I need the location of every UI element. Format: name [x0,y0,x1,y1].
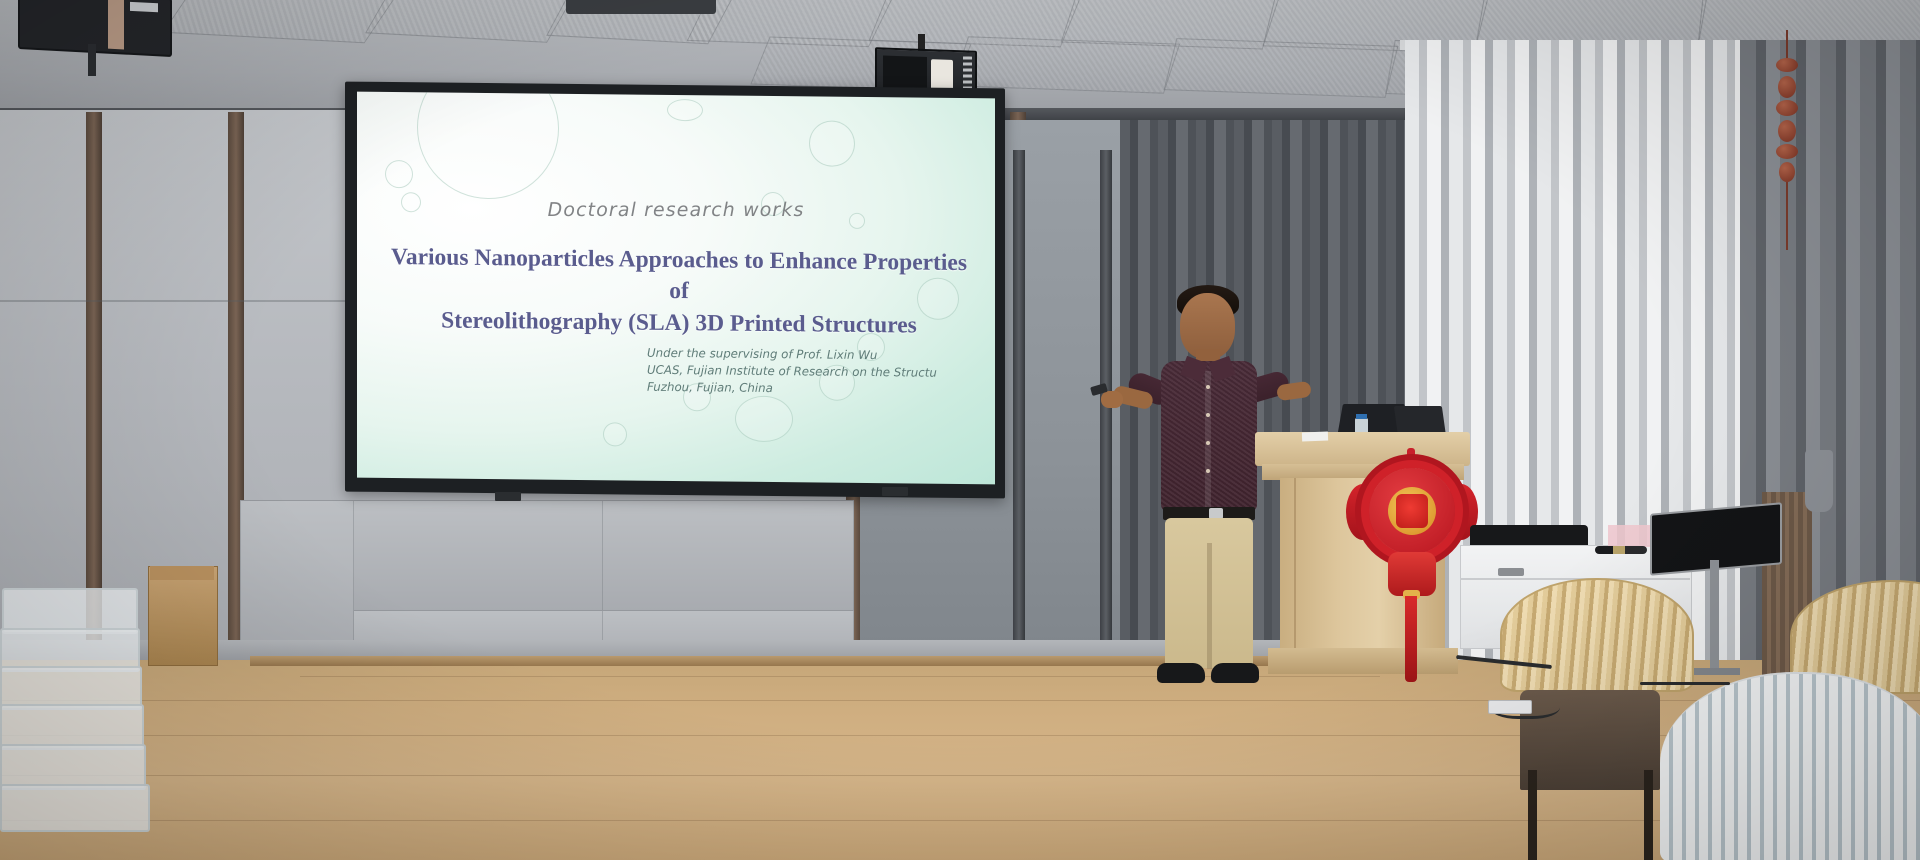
slide-bubble [667,99,703,121]
presenter-trouser-seam [1207,543,1212,669]
floor-cable [1640,682,1730,685]
shirt-button [1206,385,1210,389]
slide-eyebrow-text: Doctoral research works [357,199,995,221]
hanging-ornament-bead [1776,100,1798,116]
screen-mount [495,492,521,501]
hanging-ornament-tail [1786,182,1788,250]
slide-bubble [417,92,559,200]
cardboard-carton [148,566,218,666]
chair-leg [1644,770,1653,860]
presenter-left-shoe [1157,663,1205,683]
podium-base [1268,648,1458,674]
wireless-microphone [1595,546,1647,554]
presenter-left-hand [1101,391,1123,408]
slide-title-line-2: Stereolithography (SLA) 3D Printed Struc… [441,307,917,338]
pink-item-tray [1608,525,1650,547]
slide-bubble [735,396,793,443]
striped-tablecloth [1660,672,1920,860]
wall-trim-strip [1013,150,1025,680]
slide-subtitle-line-3: Fuzhou, Fujian, China [647,378,937,398]
hanging-ornament-bead [1778,120,1796,142]
podium-top [1255,432,1470,466]
ceiling-tile [952,36,1180,93]
hanging-cloth [1805,450,1833,512]
hanging-ornament-bead [1776,144,1798,159]
papers-on-podium [1302,432,1328,442]
hanging-ornament-bead [1776,58,1798,72]
wall-lower-panel [352,500,604,612]
storage-box [0,784,150,832]
wall-trim-strip [1100,150,1112,670]
floor-plank-line [0,820,1920,821]
tv-stand [88,44,96,76]
slide-subtitle-block: Under the supervising of Prof. Lixin Wu … [647,345,937,398]
chair-leg [1528,770,1537,860]
ceiling-projector [566,0,716,14]
monitor-stand [1710,560,1719,670]
slide-bubble [809,120,855,166]
projection-screen: Doctoral research works Various Nanopart… [345,82,1005,499]
chinese-knot-character [1396,494,1428,528]
slide-bubble [385,160,413,188]
chinese-knot-tassel [1405,596,1417,682]
shirt-button [1206,441,1210,445]
monitor-stand-foot [1690,668,1740,675]
lecture-hall-photo: Doctoral research works Various Nanopart… [0,0,1920,860]
presenter [1125,285,1295,705]
power-adapter [1488,700,1532,714]
slide-title: Various Nanoparticles Approaches to Enha… [383,242,975,342]
tv-label [130,2,158,12]
slide-bubble [603,422,627,446]
shirt-button [1206,413,1210,417]
hanging-ornament-bead [1779,162,1795,182]
presenter-right-shoe [1211,663,1259,683]
water-bottle-cap [1356,414,1367,419]
screen-mount [882,487,908,496]
cabinet-handle [1498,568,1524,576]
tv-strap [108,0,124,50]
projected-slide: Doctoral research works Various Nanopart… [357,92,995,485]
hanging-ornament-bead [1778,76,1796,98]
presenter-shirt-placket [1205,371,1211,507]
wicker-chair [1500,578,1694,692]
wall-lower-panel [602,500,854,612]
slide-title-line-1: Various Nanoparticles Approaches to Enha… [391,244,967,304]
shirt-button [1206,469,1210,473]
cardboard-carton-flap [150,566,214,580]
ceiling-tile [1164,38,1399,98]
